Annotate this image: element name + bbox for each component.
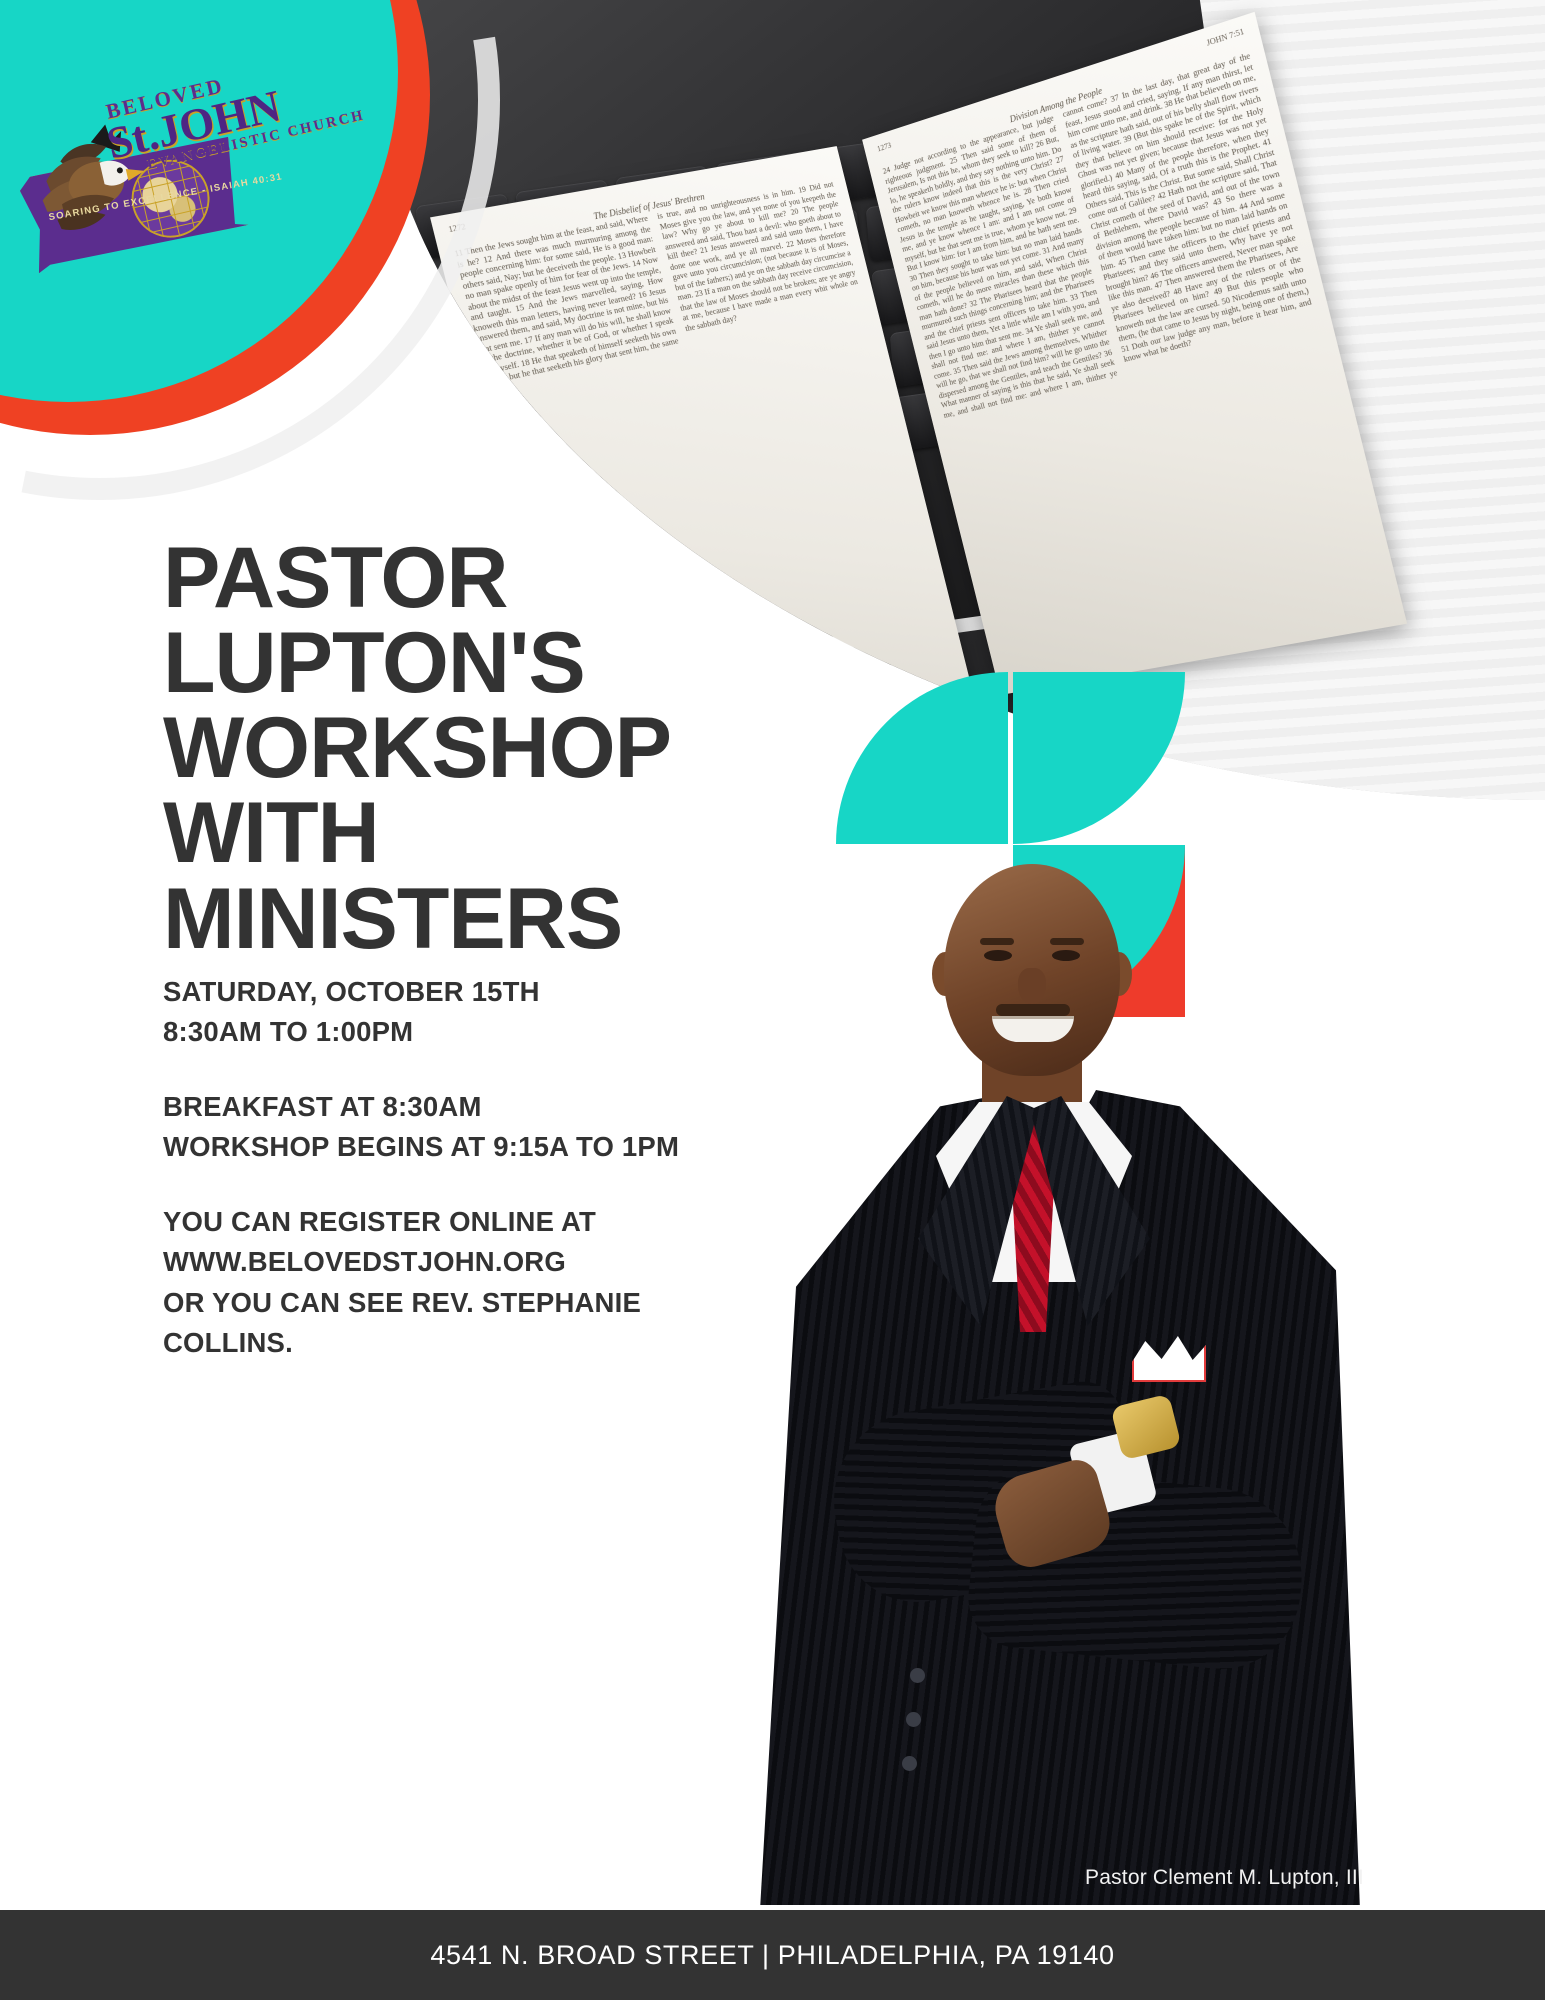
spacer [163,1053,723,1087]
pastor-eye-left [984,950,1012,961]
spacer [163,1168,723,1202]
pastor-suit-button [902,1756,917,1771]
title-line-1: PASTOR [163,536,843,621]
page-title: PASTOR LUPTON'S WORKSHOP WITH MINISTERS [163,536,843,962]
pastor-portrait [760,840,1360,1905]
pastor-name-caption: Pastor Clement M. Lupton, III [1085,1866,1364,1890]
bible-book-label-left [827,158,829,166]
event-date: SATURDAY, OCTOBER 15TH [163,972,723,1012]
event-time: 8:30AM TO 1:00PM [163,1012,723,1052]
title-line-4: WITH [163,791,843,876]
pastor-smile [992,1016,1074,1042]
title-line-5: MINISTERS [163,877,843,962]
register-website[interactable]: WWW.BELOVEDSTJOHN.ORG [163,1242,723,1282]
footer-address: 4541 N. BROAD STREET | PHILADELPHIA, PA … [430,1940,1114,1971]
pastor-eyebrow-left [980,938,1014,945]
pastor-nose [1018,968,1046,1004]
event-details: SATURDAY, OCTOBER 15TH 8:30AM TO 1:00PM … [163,972,723,1363]
event-breakfast: BREAKFAST AT 8:30AM [163,1087,723,1127]
footer-bar: 4541 N. BROAD STREET | PHILADELPHIA, PA … [0,1910,1545,2000]
decor-teal-quarter-circle-1 [836,672,1008,844]
pastor-eye-right [1052,950,1080,961]
title-line-2: LUPTON'S [163,621,843,706]
title-line-3: WORKSHOP [163,706,843,791]
pastor-suit-button [910,1668,925,1683]
pastor-mustache [996,1004,1070,1016]
register-line-1: YOU CAN REGISTER ONLINE AT [163,1202,723,1242]
register-contact: OR YOU CAN SEE REV. STEPHANIE COLLINS. [163,1283,723,1364]
event-workshop-time: WORKSHOP BEGINS AT 9:15A TO 1PM [163,1127,723,1167]
pastor-eyebrow-right [1050,938,1084,945]
decor-teal-quarter-circle-2 [1013,672,1185,844]
flyer-page: command option 1272 The Disbelief of Jes… [0,0,1545,2000]
pastor-suit-button [906,1712,921,1727]
